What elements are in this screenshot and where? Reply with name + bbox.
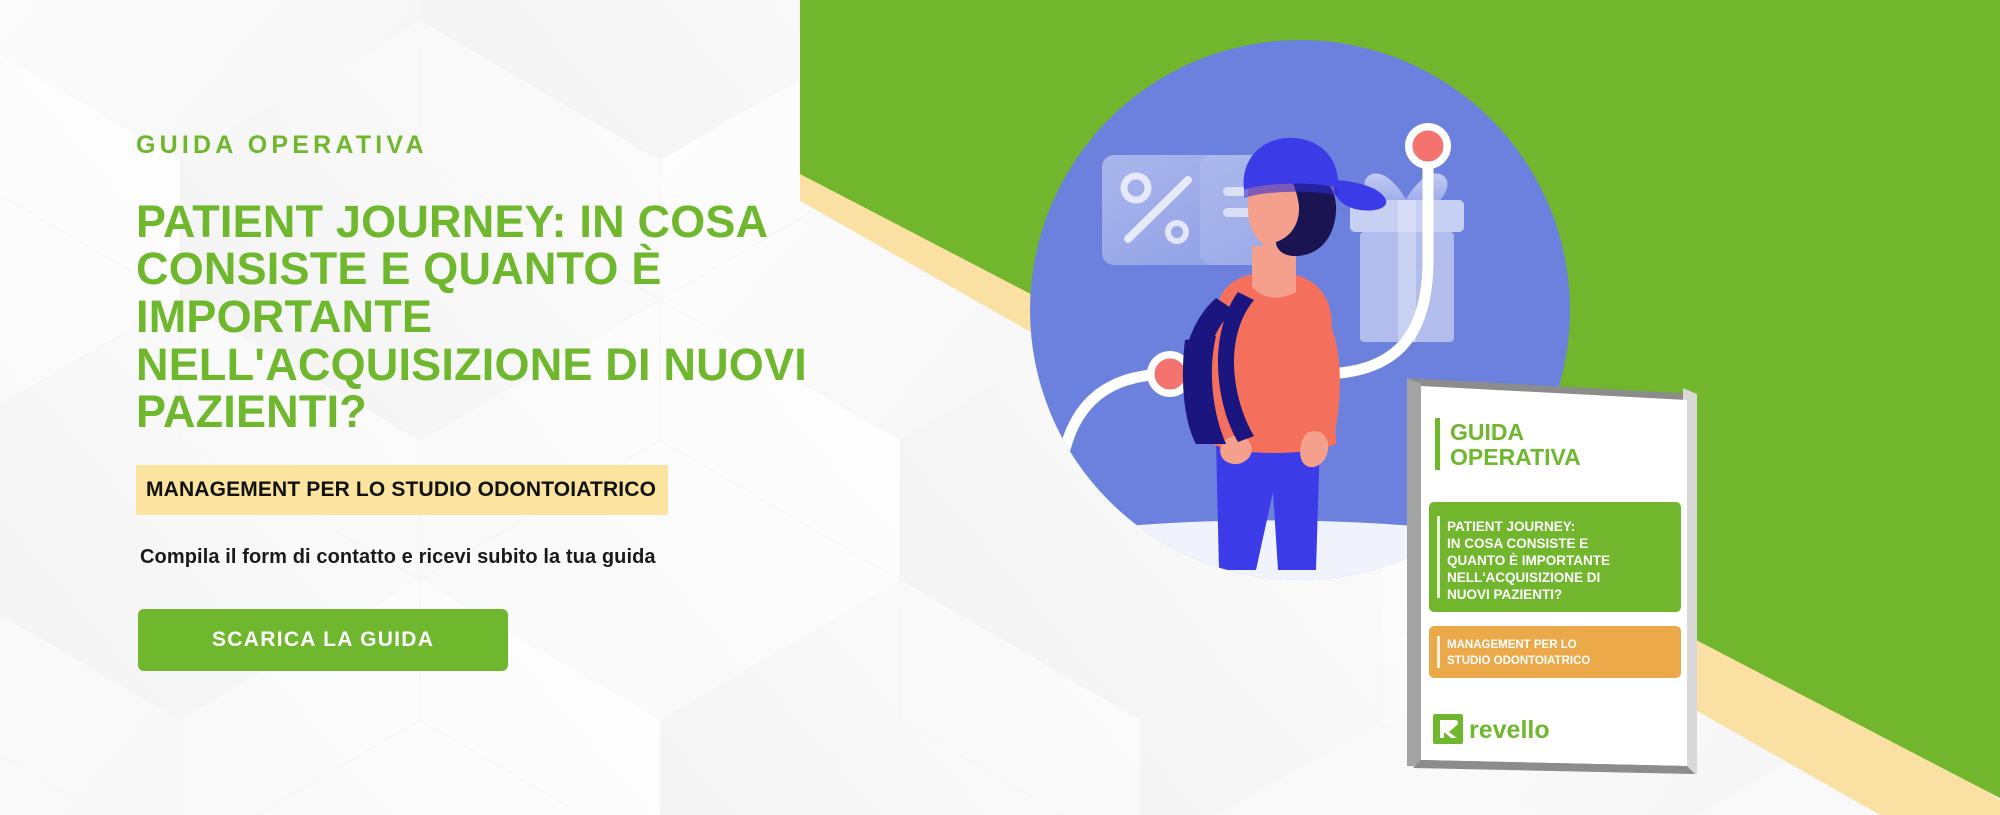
book-green-rule [1437,516,1440,598]
eyebrow-label: GUIDA OPERATIVA [136,132,896,160]
book-band-line1: MANAGEMENT PER LO [1447,639,1577,651]
revello-logo-text: revello [1469,716,1550,744]
path-node-icon [1405,123,1451,169]
book-orange-band [1429,626,1681,678]
book-eyebrow-rule [1435,418,1440,470]
download-guide-button[interactable]: SCARICA LA GUIDA [138,609,508,671]
book-title-line1: PATIENT JOURNEY: [1447,519,1575,534]
form-instruction-text: Compila il form di contatto e ricevi sub… [140,546,896,569]
promo-banner: GUIDA OPERATIVA PATIENT JOURNEY: IN COSA… [0,0,2000,815]
book-title-line4: NELL'ACQUISIZIONE DI [1447,570,1600,585]
copy-column: GUIDA OPERATIVA PATIENT JOURNEY: IN COSA… [136,132,896,671]
book-band-line2: STUDIO ODONTOIATRICO [1447,655,1590,667]
book-spine-edge [1407,378,1421,766]
book-eyebrow-line1: GUIDA [1450,419,1524,445]
page-title: PATIENT JOURNEY: IN COSA CONSISTE E QUAN… [136,198,896,436]
revello-logo: revello [1433,714,1550,744]
book-eyebrow-line2: OPERATIVA [1450,444,1581,470]
book-title-line3: QUANTO È IMPORTANTE [1447,553,1610,568]
book-title-line2: IN COSA CONSISTE E [1447,536,1588,551]
ebook-mockup: GUIDA OPERATIVA PATIENT JOURNEY: IN COSA… [1395,370,1715,800]
subject-highlight: MANAGEMENT PER LO STUDIO ODONTOIATRICO [136,465,668,515]
book-title-line5: NUOVI PAZIENTI? [1447,587,1562,602]
book-orange-rule [1437,636,1440,668]
